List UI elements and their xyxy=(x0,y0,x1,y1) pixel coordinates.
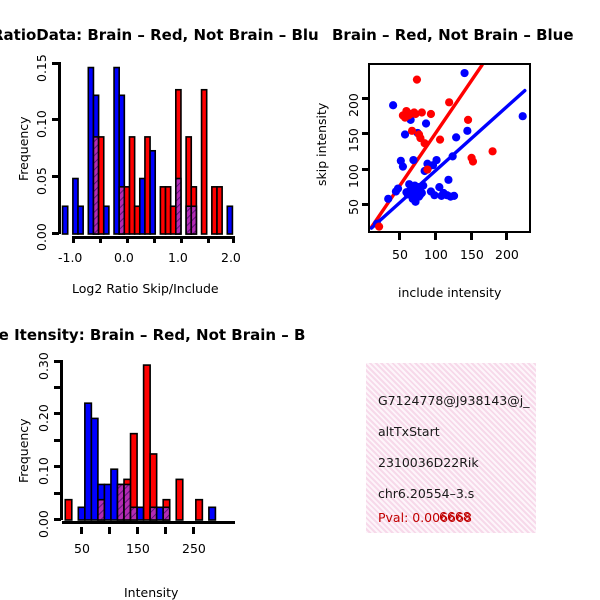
info-line-pval-overlap: 6668 xyxy=(439,509,471,524)
ratio-histogram-xtick-2 xyxy=(126,236,129,243)
gene-intensity-yt-5 xyxy=(54,386,61,389)
gene-intensity-ytick-label-0: 0.00 xyxy=(36,510,51,538)
ratio-histogram-ylabel: Frequency xyxy=(16,116,31,181)
intensity-scatter-xtick-0 xyxy=(398,233,401,240)
ratio-histogram-xtick-5 xyxy=(207,236,210,243)
ratio-histogram-xtick-6 xyxy=(232,236,235,243)
gene-intensity-histogram-svg xyxy=(62,360,235,520)
ratio-histogram-plot-area xyxy=(60,62,235,234)
gene-intensity-xt-0 xyxy=(80,527,83,534)
ratio-histogram-ytick-label-1: 0.05 xyxy=(34,167,49,195)
gene-intensity-xtick-label-2: 150 xyxy=(126,541,150,556)
intensity-scatter-ytick-label-0: 50 xyxy=(346,199,361,215)
intensity-scatter-ytick-label-1: 100 xyxy=(346,164,361,188)
intensity-scatter-ytick-2 xyxy=(362,132,369,135)
intensity-scatter-xtick-label-1: 100 xyxy=(424,247,448,262)
gene-intensity-histogram-xlabel: Intensity xyxy=(124,585,178,600)
gene-intensity-ytick-label-4: 0.20 xyxy=(36,404,51,432)
gene-intensity-yt-1 xyxy=(54,492,61,495)
info-line-probe-id: G7124778@J938143@j_ xyxy=(378,393,529,408)
ratio-histogram-ytick-label-3: 0.15 xyxy=(34,54,49,82)
gene-intensity-yt-0 xyxy=(54,518,61,521)
intensity-scatter-xtick-label-3: 200 xyxy=(495,247,519,262)
gene-intensity-xt-1 xyxy=(108,527,111,534)
gene-intensity-xt-3 xyxy=(164,527,167,534)
info-line-locus: chr6.20554–3.s xyxy=(378,486,474,501)
gene-intensity-yt-6 xyxy=(54,360,61,363)
intensity-scatter-ytick-3 xyxy=(362,97,369,100)
intensity-scatter-xtick-3 xyxy=(505,233,508,240)
gene-intensity-ytick-label-2: 0.10 xyxy=(36,457,51,485)
gene-intensity-histogram-ylabel: Frequency xyxy=(16,418,31,483)
gene-intensity-xt-4 xyxy=(192,527,195,534)
gene-intensity-xt-2 xyxy=(136,527,139,534)
intensity-scatter-ytick-0 xyxy=(362,203,369,206)
ratio-histogram-ytick-0 xyxy=(52,232,59,235)
intensity-scatter-ylabel: skip intensity xyxy=(314,103,329,186)
gene-intensity-xtick-label-4: 250 xyxy=(182,541,206,556)
ratio-histogram-xtick-4 xyxy=(180,236,183,243)
intensity-scatter-xtick-label-2: 150 xyxy=(460,247,484,262)
ratio-histogram-xtick-3 xyxy=(153,236,156,243)
panel-gene-intensity-histogram: ne Itensity: Brain – Red, Not Brain – B … xyxy=(0,300,300,600)
ratio-histogram-xtick-label-4: 1.0 xyxy=(168,250,188,265)
ratio-histogram-ytick-label-0: 0.00 xyxy=(34,223,49,251)
ratio-histogram-ytick-3 xyxy=(52,62,59,65)
intensity-scatter-xtick-label-0: 50 xyxy=(392,247,408,262)
info-line-event-type: altTxStart xyxy=(378,424,440,439)
ratio-histogram-xtick-0 xyxy=(72,236,75,243)
intensity-scatter-xlabel: include intensity xyxy=(398,285,501,300)
figure-canvas: RatioData: Brain – Red, Not Brain – Blu … xyxy=(0,0,600,600)
ratio-histogram-svg xyxy=(60,62,235,234)
gene-info-box: G7124778@J938143@j_ altTxStart 2310036D2… xyxy=(366,363,536,533)
intensity-scatter-fit-lines xyxy=(371,65,524,228)
ratio-histogram-ytick-label-2: 0.10 xyxy=(34,110,49,138)
ratio-histogram-ytick-2 xyxy=(52,118,59,121)
gene-intensity-xtick-label-0: 50 xyxy=(74,541,90,556)
gene-intensity-histogram-plot-area xyxy=(62,360,235,520)
ratio-histogram-xlabel: Log2 Ratio Skip/Include xyxy=(72,281,219,296)
panel-intensity-scatter: Brain – Red, Not Brain – Blue skip inten… xyxy=(300,0,600,300)
ratio-histogram-xtick-label-2: 0.0 xyxy=(114,250,134,265)
intensity-scatter-svg xyxy=(370,65,529,231)
intensity-scatter-title: Brain – Red, Not Brain – Blue xyxy=(332,26,574,44)
gene-intensity-histogram-xaxis xyxy=(62,521,235,524)
gene-intensity-yt-3 xyxy=(54,439,61,442)
ratio-histogram-title: RatioData: Brain – Red, Not Brain – Blu xyxy=(0,26,319,44)
intensity-scatter-ytick-label-2: 150 xyxy=(346,128,361,152)
ratio-histogram-xtick-1 xyxy=(99,236,102,243)
intensity-scatter-xtick-2 xyxy=(470,233,473,240)
gene-intensity-ytick-label-6: 0.30 xyxy=(36,352,51,380)
panel-ratio-histogram: RatioData: Brain – Red, Not Brain – Blu … xyxy=(0,0,300,300)
info-line-gene-symbol: 2310036D22Rik xyxy=(378,455,479,470)
intensity-scatter-ytick-label-3: 200 xyxy=(346,93,361,117)
gene-intensity-yt-4 xyxy=(54,412,61,415)
ratio-histogram-xtick-label-0: -1.0 xyxy=(58,250,82,265)
gene-intensity-histogram-bars xyxy=(65,365,215,520)
ratio-histogram-ytick-1 xyxy=(52,175,59,178)
ratio-histogram-bars xyxy=(63,68,233,234)
intensity-scatter-xtick-1 xyxy=(434,233,437,240)
ratio-histogram-yaxis xyxy=(58,62,61,234)
gene-intensity-histogram-title: ne Itensity: Brain – Red, Not Brain – B xyxy=(0,326,305,344)
intensity-scatter-plot-area xyxy=(368,63,531,233)
intensity-scatter-ytick-1 xyxy=(362,168,369,171)
ratio-histogram-xtick-label-6: 2.0 xyxy=(221,250,241,265)
gene-intensity-yt-2 xyxy=(54,465,61,468)
